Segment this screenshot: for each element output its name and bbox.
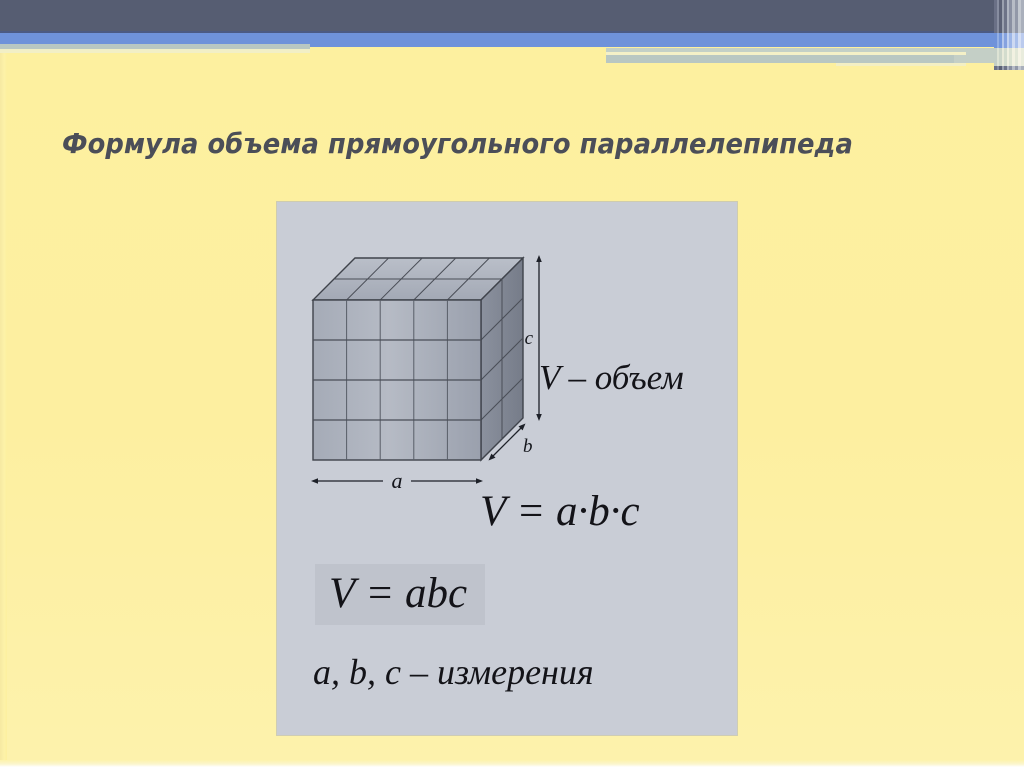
slide-left-edge	[0, 0, 7, 767]
header-band-pale-left	[0, 49, 310, 53]
formula-dimensions-legend: a, b, c – измерения	[313, 654, 594, 690]
header-edge-stripes-sage	[994, 48, 1024, 66]
header-band-sage-right-2	[606, 55, 954, 63]
figure-panel: c b a V – объем V = a·b·c V = abc a, b, …	[277, 202, 737, 735]
parallelepiped-svg: c b a	[301, 240, 551, 500]
svg-text:a: a	[392, 468, 403, 493]
slide-bottom-edge	[0, 760, 1024, 767]
page-title: Формула объема прямоугольного параллелеп…	[62, 127, 890, 160]
header-band-pale-right-2	[836, 63, 966, 66]
header-band-dark-slate	[0, 0, 1024, 31]
parallelepiped-figure: c b a	[301, 240, 551, 500]
svg-text:b: b	[523, 436, 533, 457]
header-edge-stripes-blue	[994, 33, 1024, 48]
slide-canvas: Формула объема прямоугольного параллелеп…	[0, 0, 1024, 767]
formula-volume-definition: V – объем	[539, 360, 684, 395]
header-band-blue-right	[300, 33, 1024, 47]
svg-text:c: c	[525, 328, 534, 349]
formula-volume-compact: V = abc	[315, 564, 485, 625]
formula-volume-product: V = a·b·c	[480, 490, 640, 533]
